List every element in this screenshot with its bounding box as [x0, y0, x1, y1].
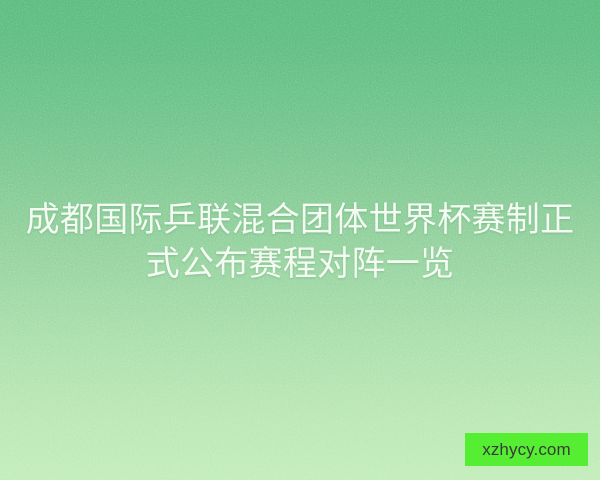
article-cover-image: 成都国际乒联混合团体世界杯赛制正式公布赛程对阵一览 xzhycy.com: [0, 0, 600, 480]
cover-headline: 成都国际乒联混合团体世界杯赛制正式公布赛程对阵一览: [0, 198, 600, 286]
site-watermark-label: xzhycy.com: [482, 441, 571, 458]
site-watermark-badge: xzhycy.com: [465, 433, 588, 466]
